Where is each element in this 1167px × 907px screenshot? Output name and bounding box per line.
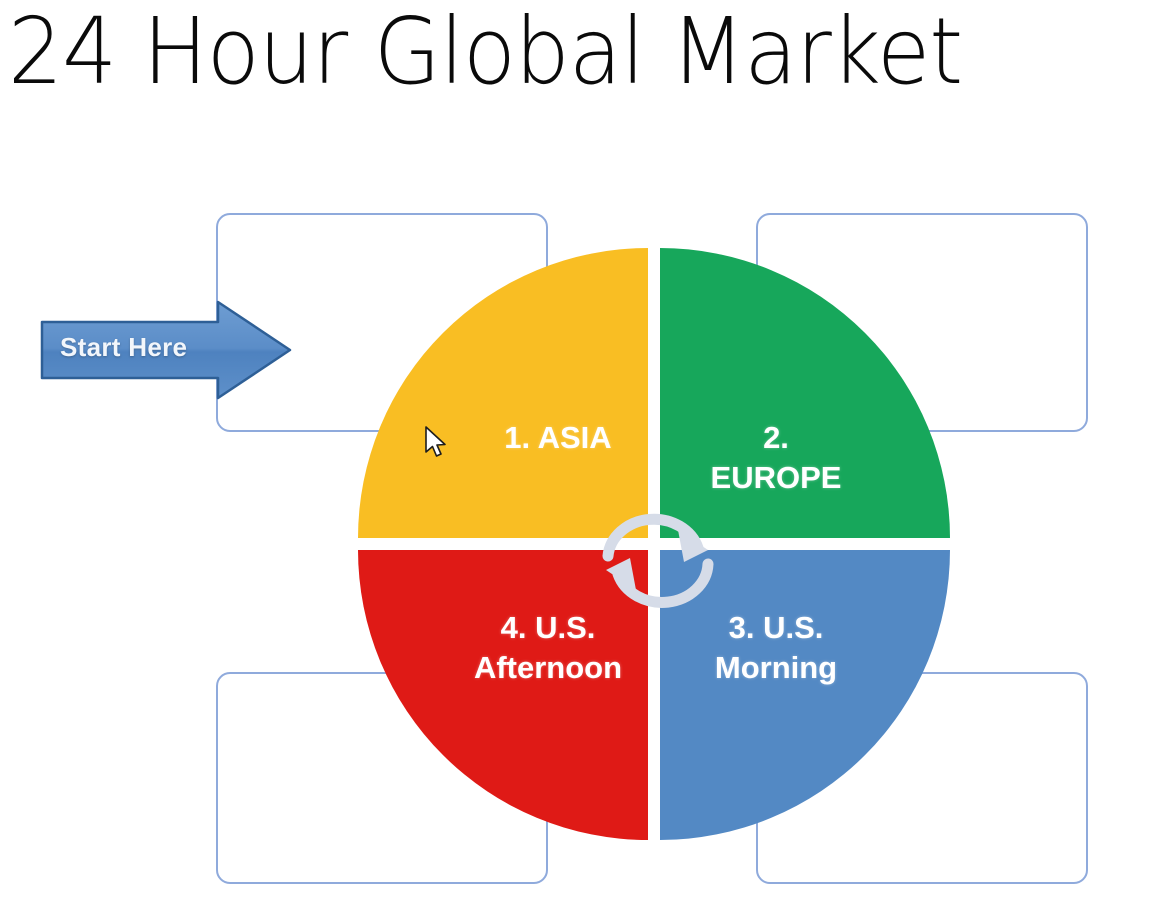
wheel-quadrant-asia-fill — [358, 248, 648, 538]
wheel-quadrant-us-morning-fill — [660, 550, 950, 840]
wheel-quadrant-us-afternoon[interactable] — [358, 550, 648, 840]
wheel-quadrant-us-afternoon-fill — [358, 550, 648, 840]
wheel-quadrant-asia[interactable] — [358, 248, 648, 538]
page-title: 24 Hour Global Market — [8, 0, 1098, 108]
market-cycle-wheel: 1. ASIA 2. EUROPE 3. U.S. Morning 4. U.S… — [358, 248, 950, 840]
start-here-label: Start Here — [60, 332, 230, 363]
wheel-label-europe: 2. EUROPE — [676, 418, 876, 498]
slide-canvas: 24 Hour Global Market Start Here — [0, 0, 1167, 907]
wheel-label-us-morning: 3. U.S. Morning — [676, 608, 876, 688]
wheel-quadrant-us-morning[interactable] — [660, 550, 950, 840]
wheel-label-asia: 1. ASIA — [468, 418, 648, 458]
wheel-label-us-afternoon: 4. U.S. Afternoon — [448, 608, 648, 688]
